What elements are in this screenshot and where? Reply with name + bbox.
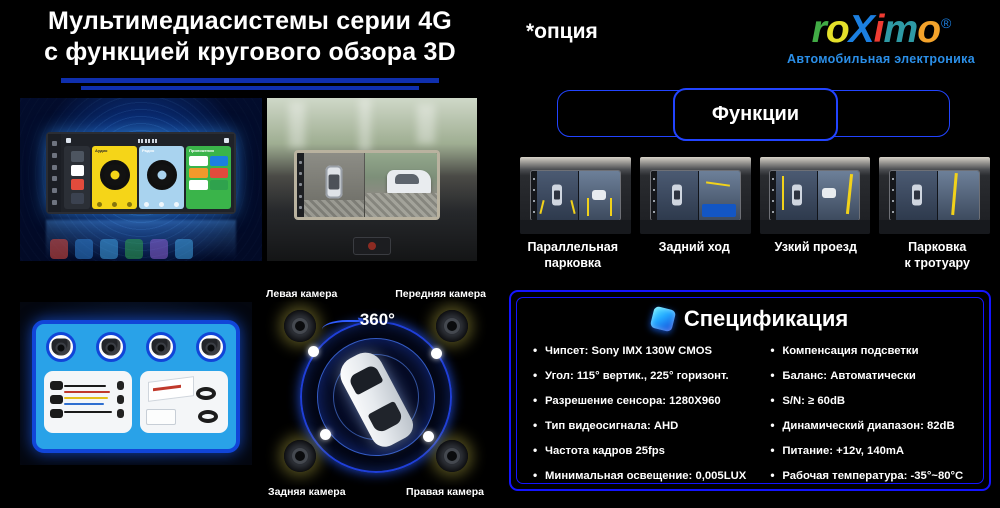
label-left-camera: Левая камера	[266, 288, 337, 300]
function-label-line1: Задний ход	[634, 239, 756, 255]
function-thumb-reverse	[640, 157, 751, 234]
product-photo-dashboard	[267, 98, 477, 261]
spec-item: Динамический диапазон: 82dB	[770, 420, 975, 432]
camera-thumb-3	[146, 332, 176, 362]
app-drawer-column[interactable]	[64, 146, 90, 209]
function-label-line1: Узкий проезд	[755, 239, 877, 255]
logo-letter-m: m	[884, 10, 918, 49]
specification-columns: Чипсет: Sony IMX 130W CMOS Угол: 115° ве…	[533, 345, 975, 495]
camera-thumb-4	[196, 332, 226, 362]
card-applications-label: Приложения	[186, 146, 231, 153]
label-rear-camera: Задняя камера	[268, 486, 346, 498]
function-labels-row: Параллельная парковка Задний ход Узкий п…	[512, 239, 998, 271]
function-label-reverse: Задний ход	[634, 239, 756, 271]
function-label-line1: Параллельная	[512, 239, 634, 255]
functions-header-frame: Функции	[557, 90, 950, 137]
registered-trademark-icon: ®	[941, 16, 950, 30]
specification-header: Спецификация	[511, 306, 989, 332]
specification-column-left: Чипсет: Sony IMX 130W CMOS Угол: 115° ве…	[533, 345, 746, 495]
wiring-harness-box	[44, 371, 132, 433]
spec-item: Тип видеосигнала: AHD	[533, 420, 746, 432]
cube-icon	[649, 306, 676, 333]
title-rule-primary	[61, 78, 439, 83]
reflected-app-icons	[50, 239, 193, 259]
spec-item: Чипсет: Sony IMX 130W CMOS	[533, 345, 746, 357]
specification-title: Спецификация	[684, 306, 848, 332]
birdseye-car	[326, 166, 343, 199]
spec-item: Разрешение сенсора: 1280X960	[533, 395, 746, 407]
card-radio-label: Радио	[139, 146, 184, 153]
function-thumbnails	[520, 157, 990, 234]
specification-column-right: Компенсация подсветки Баланс: Автоматиче…	[746, 345, 975, 495]
spec-item: Компенсация подсветки	[770, 345, 975, 357]
function-thumb-narrow-passage	[760, 157, 871, 234]
camera-thumb-1	[46, 332, 76, 362]
live-camera-view	[365, 153, 437, 217]
logo-letter-o1: o	[826, 10, 849, 49]
page-title: Мультимедиасистемы серии 4G с функцией к…	[0, 6, 500, 90]
logo-letter-i: i	[874, 10, 884, 49]
specification-panel: Спецификация Чипсет: Sony IMX 130W CMOS …	[509, 290, 991, 491]
camera-node-right	[436, 440, 468, 472]
dash-screen-360	[294, 150, 440, 220]
brand-logo: roXimo® Автомобильная электроника	[776, 10, 986, 66]
card-audio[interactable]: Аудио	[92, 146, 137, 209]
birdseye-view	[304, 153, 365, 217]
label-front-camera: Передняя камера	[395, 288, 486, 300]
function-label-narrow-passage: Узкий проезд	[755, 239, 877, 271]
camera-thumb-2	[96, 332, 126, 362]
dash-hazard-button[interactable]	[353, 237, 391, 255]
function-label-parallel-parking: Параллельная парковка	[512, 239, 634, 271]
camera-thumbnails-row	[44, 332, 228, 362]
card-audio-label: Аудио	[92, 146, 137, 153]
logo-wordmark: roXimo®	[776, 10, 986, 49]
head-unit-side-keys	[48, 134, 61, 212]
function-label-curb-parking: Парковка к тротуару	[877, 239, 999, 271]
spec-item: Минимальная освещение: 0,005LUX	[533, 470, 746, 482]
label-right-camera: Правая камера	[406, 486, 484, 498]
home-screen-cards: Аудио Радио Приложения	[63, 145, 232, 210]
title-line-1: Мультимедиасистемы серии 4G	[0, 6, 500, 37]
accessory-boxes	[44, 371, 228, 433]
product-photo-camera-kit	[20, 302, 252, 465]
function-label-line2: к тротуару	[877, 255, 999, 271]
card-radio[interactable]: Радио	[139, 146, 184, 209]
mounting-accessories-box	[140, 371, 228, 433]
function-label-line2: парковка	[512, 255, 634, 271]
camera-kit-panel	[32, 320, 240, 453]
radio-disc-icon	[147, 160, 177, 190]
status-bar	[63, 136, 232, 145]
head-unit-device: Аудио Радио Приложения	[46, 132, 236, 214]
diagram-360-cameras: 360° Левая камера Передняя камера Задняя…	[258, 286, 494, 500]
rotation-arrow-icon	[322, 320, 364, 336]
function-label-line1: Парковка	[877, 239, 999, 255]
title-rule-secondary	[81, 86, 419, 90]
camera-node-rear	[284, 440, 316, 472]
head-unit-screen: Аудио Радио Приложения	[61, 134, 234, 212]
option-note: *опция	[526, 20, 598, 44]
spec-item: Частота кадров 25fps	[533, 445, 746, 457]
logo-tagline: Автомобильная электроника	[776, 52, 986, 66]
camera-node-front	[436, 310, 468, 342]
spec-item: S/N: ≥ 60dB	[770, 395, 975, 407]
product-box	[148, 376, 194, 402]
title-line-2: с функцией кругового обзора 3D	[0, 37, 500, 68]
function-thumb-curb-parking	[879, 157, 990, 234]
camera-node-left	[284, 310, 316, 342]
function-thumb-parallel-parking	[520, 157, 631, 234]
spec-item: Рабочая температура: -35°~80°C	[770, 470, 975, 482]
functions-heading-label: Функции	[712, 103, 799, 126]
logo-letter-x: X	[849, 10, 874, 49]
card-applications[interactable]: Приложения	[186, 146, 231, 209]
logo-letter-o2: o	[917, 10, 940, 49]
spec-item: Питание: +12v, 140mA	[770, 445, 975, 457]
audio-disc-icon	[100, 160, 130, 190]
poster-canvas: Мультимедиасистемы серии 4G с функцией к…	[0, 0, 1000, 508]
spec-item: Баланс: Автоматически	[770, 370, 975, 382]
spec-item: Угол: 115° вертик., 225° горизонт.	[533, 370, 746, 382]
screw-bag	[146, 409, 176, 425]
logo-letter-r: r	[812, 10, 826, 49]
degrees-label: 360°	[360, 310, 395, 330]
functions-heading-pill: Функции	[673, 88, 838, 141]
product-photo-head-unit: Аудио Радио Приложения	[20, 98, 262, 261]
